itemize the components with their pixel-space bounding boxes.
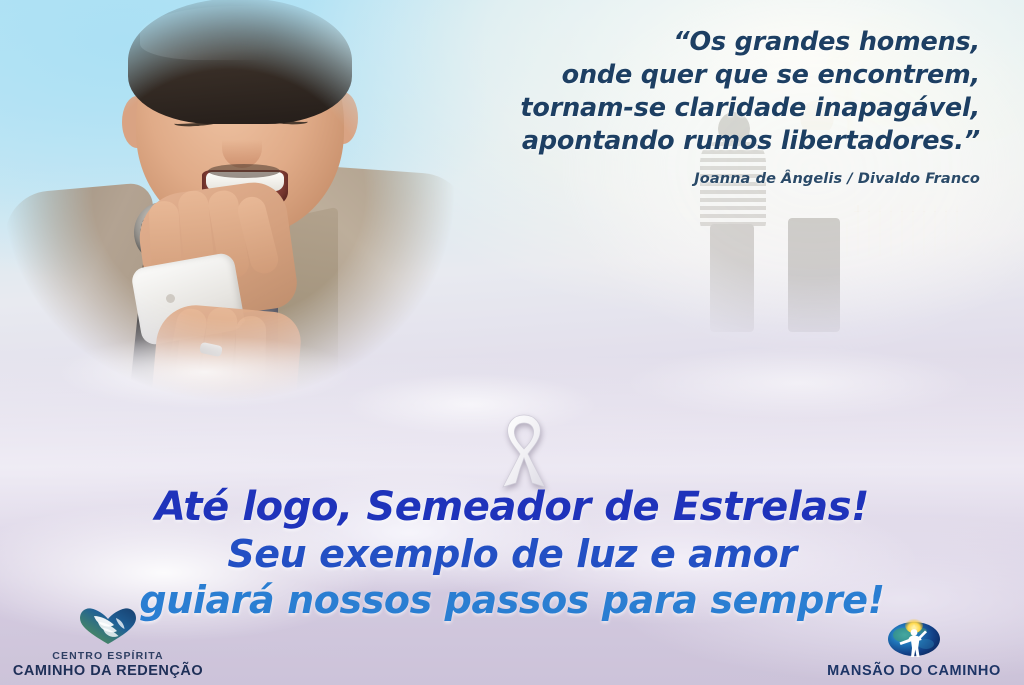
quote-line-2: onde quer que se encontrem, — [420, 59, 980, 92]
quote-attribution: Joanna de Ângelis / Divaldo Franco — [420, 171, 980, 187]
portrait-hair-highlight — [140, 6, 340, 60]
quote-block: “Os grandes homens, onde quer que se enc… — [420, 26, 980, 187]
portrait-hand-lower — [149, 302, 303, 440]
portrait-divaldo-franco — [0, 0, 464, 432]
logo-left-top-line: CENTRO ESPÍRITA — [13, 650, 203, 663]
headline-block: Até logo, Semeador de Estrelas! Seu exem… — [0, 487, 1024, 619]
logo-left-text: CENTRO ESPÍRITA CAMINHO DA REDENÇÃO — [13, 650, 203, 680]
portrait-nose — [222, 128, 262, 168]
logo-right-main-line: MANSÃO DO CAMINHO — [827, 663, 1001, 680]
logo-right-text: MANSÃO DO CAMINHO — [827, 663, 1001, 680]
headline-line-2: Seu exemplo de luz e amor — [0, 535, 1024, 573]
portrait-cuff-button — [166, 294, 175, 303]
quote-line-4: apontando rumos libertadores.” — [420, 125, 980, 158]
memorial-poster: “Os grandes homens, onde quer que se enc… — [0, 0, 1024, 685]
headline-line-1: Até logo, Semeador de Estrelas! — [0, 487, 1024, 527]
logo-centro-espirita[interactable]: CENTRO ESPÍRITA CAMINHO DA REDENÇÃO — [8, 607, 208, 680]
globe-figure-torch-icon — [886, 618, 942, 663]
quote-line-1: “Os grandes homens, — [420, 26, 980, 59]
logo-left-main-line: CAMINHO DA REDENÇÃO — [13, 663, 203, 680]
logo-mansao-do-caminho[interactable]: MANSÃO DO CAMINHO — [814, 618, 1014, 680]
portrait-upper-lip — [208, 164, 280, 178]
mourning-ribbon-icon — [493, 409, 555, 491]
heart-hands-icon — [79, 607, 137, 650]
quote-line-3: tornam-se claridade inapagável, — [420, 92, 980, 125]
